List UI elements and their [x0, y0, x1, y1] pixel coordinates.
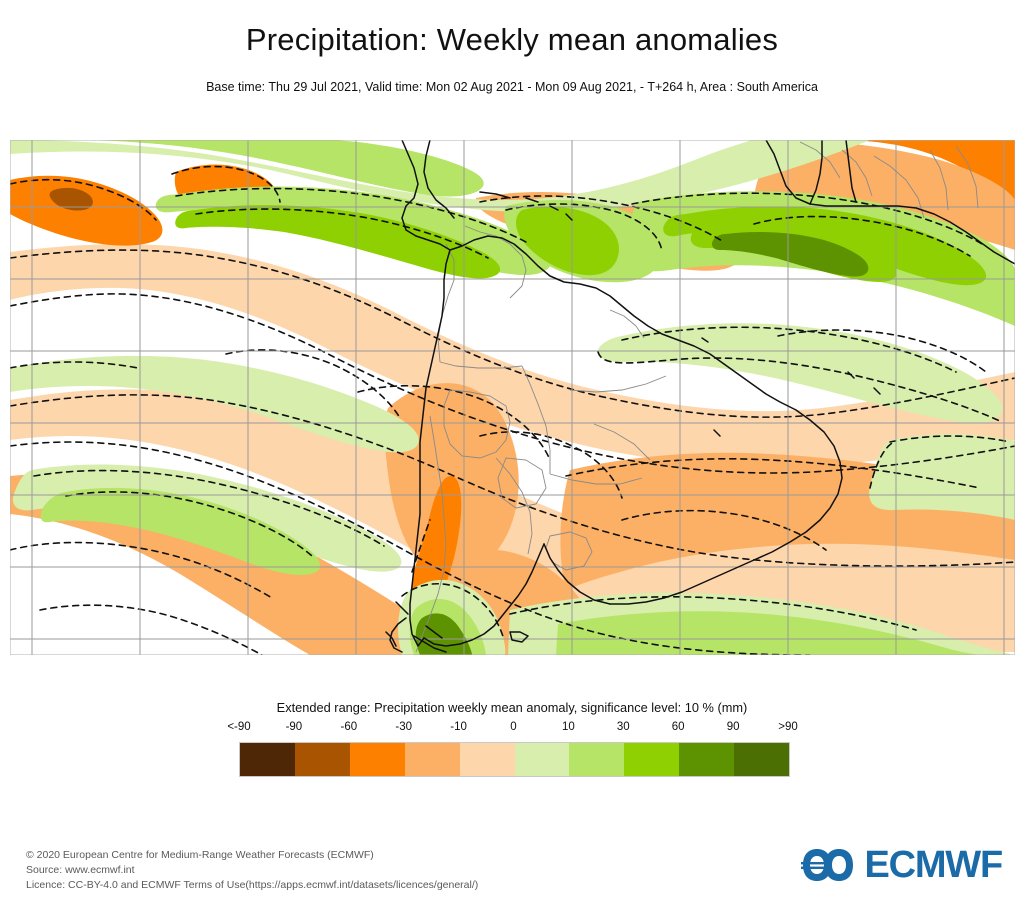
colorbar-tick-2: -60: [340, 721, 357, 733]
colorbar-swatch-4: [460, 743, 515, 776]
colorbar-swatch-8: [679, 743, 734, 776]
colorbar-tick-10: >90: [778, 721, 798, 733]
ecmwf-logo: ECMWF: [801, 845, 1002, 885]
colorbar-tick-8: 60: [672, 721, 685, 733]
colorbar-tick-4: -10: [450, 721, 467, 733]
ecmwf-logo-text: ECMWF: [864, 846, 1002, 884]
footer-licence: Licence: CC-BY-4.0 and ECMWF Terms of Us…: [26, 878, 478, 893]
colorbar-swatch-3: [405, 743, 460, 776]
colorbar-tick-6: 10: [562, 721, 575, 733]
colorbar-tick-7: 30: [617, 721, 630, 733]
page-title: Precipitation: Weekly mean anomalies: [0, 0, 1024, 55]
map-canvas: [10, 140, 1015, 655]
anomaly-region-pale-green-far-east: [869, 434, 1015, 520]
colorbar-swatch-9: [734, 743, 789, 776]
colorbar-swatch-6: [569, 743, 624, 776]
colorbar-tick-5: 0: [510, 721, 516, 733]
footer-credits: © 2020 European Centre for Medium-Range …: [26, 848, 478, 893]
colorbar-swatch-1: [295, 743, 350, 776]
colorbar-swatch-2: [350, 743, 405, 776]
ecmwf-globe-icon: [801, 845, 857, 885]
anomaly-map: [10, 140, 1015, 655]
colorbar-swatch-5: [515, 743, 570, 776]
page-subtitle: Base time: Thu 29 Jul 2021, Valid time: …: [0, 55, 1024, 94]
colorbar-swatches: [239, 742, 790, 777]
footer-copyright: © 2020 European Centre for Medium-Range …: [26, 848, 478, 863]
colorbar-tick-labels: <-90-90-60-30-10010306090>90: [0, 721, 1024, 739]
legend-caption: Extended range: Precipitation weekly mea…: [0, 700, 1024, 715]
colorbar-tick-0: <-90: [227, 721, 250, 733]
colorbar-tick-1: -90: [286, 721, 303, 733]
colorbar-tick-9: 90: [727, 721, 740, 733]
colorbar-tick-3: -30: [395, 721, 412, 733]
colorbar-swatch-0: [240, 743, 295, 776]
colorbar-swatch-7: [624, 743, 679, 776]
footer-source: Source: www.ecmwf.int: [26, 863, 478, 878]
colorbar-legend: Extended range: Precipitation weekly mea…: [0, 700, 1024, 739]
